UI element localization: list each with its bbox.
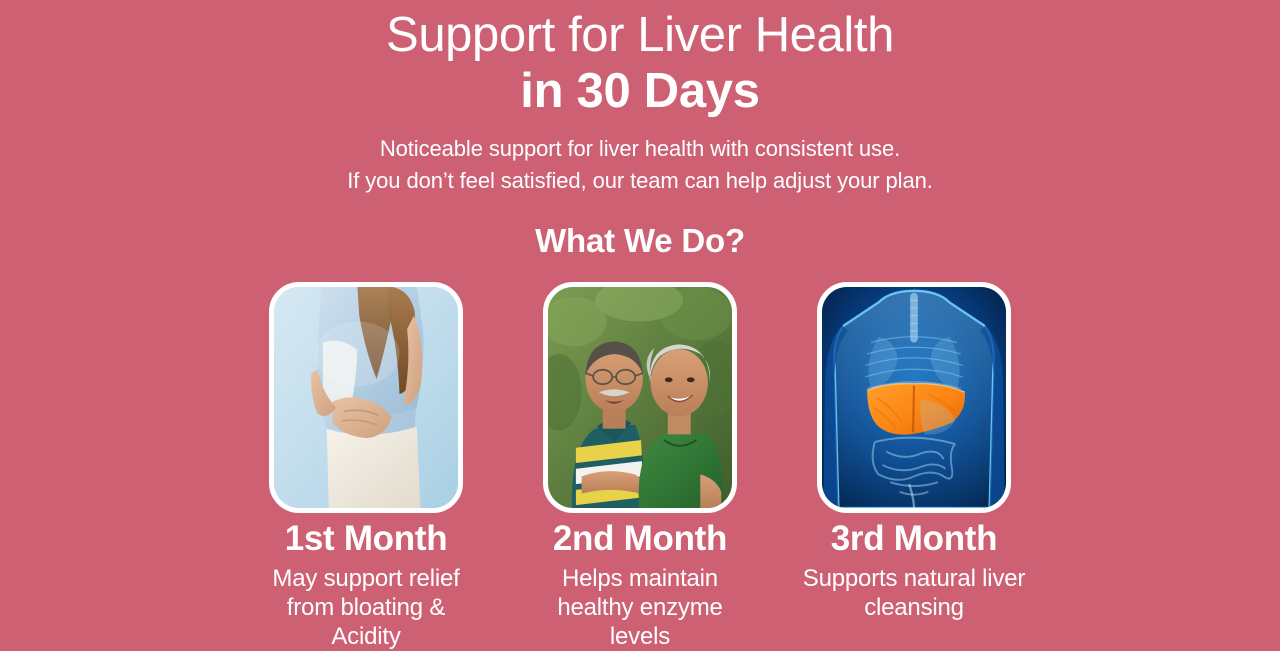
senior-couple-illustration bbox=[548, 287, 732, 508]
month-card-3-description: Supports natural liver cleansing bbox=[799, 564, 1029, 623]
month-card-3: 3rd Month Supports natural liver cleansi… bbox=[817, 282, 1011, 622]
month-card-2: 2nd Month Helps maintain healthy enzyme … bbox=[543, 282, 737, 651]
month-card-2-title: 2nd Month bbox=[553, 520, 727, 559]
headline-line-1: Support for Liver Health bbox=[0, 10, 1280, 62]
month-card-1: 1st Month May support relief from bloati… bbox=[269, 282, 463, 651]
section-heading: What We Do? bbox=[0, 222, 1280, 260]
anatomy-torso-liver-graphic bbox=[822, 287, 1006, 508]
headline-line-2: in 30 Days bbox=[0, 66, 1280, 118]
month-card-1-description: May support relief from bloating & Acidi… bbox=[251, 564, 481, 651]
subtitle-line-1: Noticeable support for liver health with… bbox=[0, 133, 1280, 166]
anatomical-liver-illustration bbox=[817, 282, 1011, 513]
subtitle-line-2: If you don’t feel satisfied, our team ca… bbox=[0, 165, 1280, 198]
month-card-1-title: 1st Month bbox=[285, 520, 448, 559]
woman-holding-stomach-photo bbox=[269, 282, 463, 513]
liver-health-promo-banner: Support for Liver Health in 30 Days Noti… bbox=[0, 0, 1280, 651]
month-card-2-description: Helps maintain healthy enzyme levels bbox=[525, 564, 755, 651]
month-card-3-title: 3rd Month bbox=[831, 520, 997, 559]
woman-holding-stomach-illustration bbox=[274, 287, 458, 508]
senior-couple-photo bbox=[543, 282, 737, 513]
page-title: Support for Liver Health in 30 Days bbox=[0, 0, 1280, 118]
month-cards-row: 1st Month May support relief from bloati… bbox=[0, 282, 1280, 651]
subtitle: Noticeable support for liver health with… bbox=[0, 133, 1280, 198]
